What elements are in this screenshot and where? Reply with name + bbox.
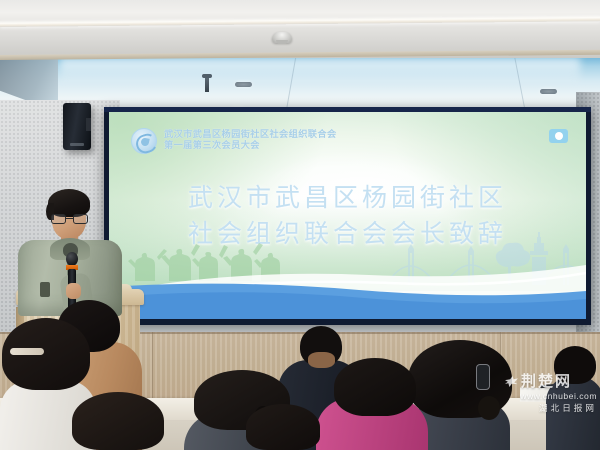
audience-member-4 (316, 358, 428, 450)
audience-group (0, 300, 600, 450)
association-emblem-icon (131, 128, 157, 154)
presenter-pocket (40, 282, 50, 297)
screenshot-stage: 武汉市武昌区杨园街社区社会组织联合会 第一届第三次会员大会 武汉市武昌区杨园街社… (0, 0, 600, 450)
speaker-bracket (86, 118, 91, 131)
ceiling-fixture (205, 76, 209, 92)
audience-member-9 (546, 346, 600, 450)
slide-header-text: 武汉市武昌区杨园街社区社会组织联合会 第一届第三次会员大会 (164, 130, 337, 152)
blue-dot-badge-icon (549, 129, 568, 143)
ceiling-downlight (540, 89, 557, 94)
slide-header: 武汉市武昌区杨园街社区社会组织联合会 第一届第三次会员大会 (131, 128, 337, 154)
presenter-hair (48, 189, 90, 217)
audience-member-3 (246, 404, 320, 450)
smoke-detector (272, 32, 292, 43)
projection-screen: 武汉市武昌区杨园街社区社会组织联合会 第一届第三次会员大会 武汉市武昌区杨园街社… (109, 112, 586, 319)
ceiling-downlight (235, 82, 252, 87)
microphone-head (66, 252, 78, 266)
presenter-at-podium (10, 186, 130, 316)
hair-clip (10, 348, 44, 355)
slide-title-line1: 武汉市武昌区杨园街社区 (109, 180, 586, 216)
projection-screen-frame: 武汉市武昌区杨园街社区社会组织联合会 第一届第三次会员大会 武汉市武昌区杨园街社… (104, 107, 591, 325)
hair-bun (478, 396, 500, 420)
presenter-glasses (51, 214, 88, 224)
slide-header-line2: 第一届第三次会员大会 (164, 141, 337, 152)
hair-clip (476, 364, 490, 390)
white-ceiling-soffit (0, 0, 600, 58)
presenter-hand (66, 283, 81, 299)
soffit-light-strip (0, 15, 600, 27)
audience-member-8 (72, 392, 164, 450)
ceiling-glow (60, 58, 580, 84)
